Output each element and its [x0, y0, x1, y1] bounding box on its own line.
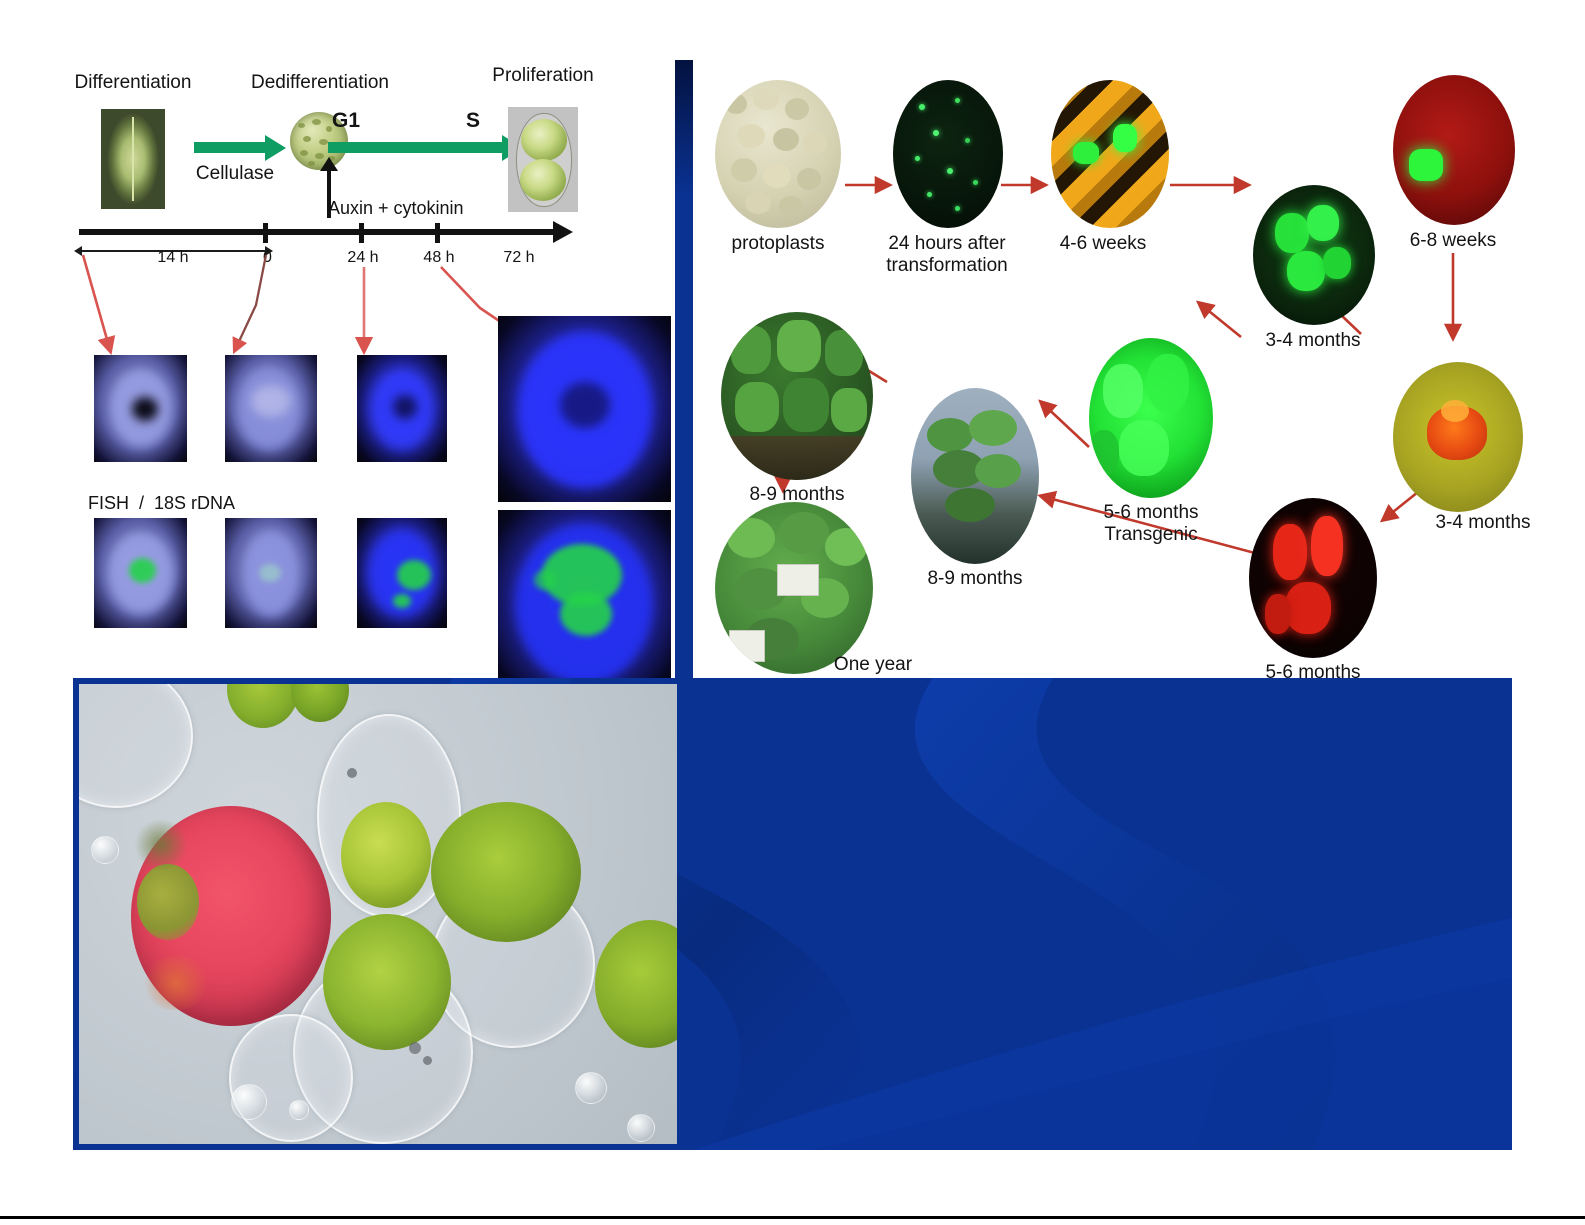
nucleus-image-24h	[357, 355, 447, 462]
page-bottom-rule	[0, 1216, 1585, 1219]
step-label-8-9-months-plant: 8-9 months	[927, 568, 1022, 590]
step-image-24h-after-transformation	[893, 80, 1003, 228]
timeline-tick-48h	[435, 223, 440, 243]
label-cellulase: Cellulase	[196, 163, 274, 185]
nucleus-image-48h	[498, 316, 671, 502]
leaf-photo	[101, 109, 165, 209]
label-g1-phase: G1	[332, 109, 360, 133]
timeline-tick-24h	[359, 223, 364, 243]
label-time-0: 0	[263, 249, 272, 268]
slide-canvas: Differentiation Dedifferentiation Prolif…	[0, 0, 1585, 1225]
timeline-axis	[79, 229, 554, 235]
step-image-8-9-months-plant	[911, 388, 1039, 564]
step-label-5-6-months-transgenic: 5-6 months Transgenic	[1103, 502, 1198, 546]
label-time-48h: 48 h	[423, 249, 454, 268]
step-label-3-4-months-shoots: 3-4 months	[1265, 330, 1360, 352]
fish-image-14h	[94, 518, 187, 628]
step-label-4-6-weeks: 4-6 weeks	[1060, 233, 1147, 255]
timeline-tick-0	[263, 223, 268, 243]
green-protoplast-right	[431, 802, 581, 942]
step-image-4-6-weeks	[1051, 80, 1169, 228]
left-figure-panel: Differentiation Dedifferentiation Prolif…	[60, 50, 675, 670]
step-label-6-8-weeks: 6-8 weeks	[1410, 230, 1497, 252]
protoplast-micrograph-photo	[79, 684, 677, 1144]
fish-image-0h	[225, 518, 317, 628]
label-auxin-cytokinin: Auxin + cytokinin	[328, 198, 464, 219]
cellulase-arrow	[194, 142, 266, 153]
label-14h: 14 h	[157, 249, 188, 268]
nucleus-image-0h	[225, 355, 317, 462]
step-label-protoplasts: protoplasts	[732, 233, 825, 255]
step-image-6-8-weeks	[1393, 75, 1515, 225]
label-time-24h: 24 h	[347, 249, 378, 268]
fish-image-24h	[357, 518, 447, 628]
step-image-5-6-months-non-transgenic	[1249, 498, 1377, 658]
right-figure-panel: protoplasts 24 hours after transformatio…	[693, 50, 1583, 680]
step-label-one-year: One year	[834, 654, 912, 676]
dividing-cell-photo	[508, 107, 578, 212]
step-image-one-year	[715, 502, 873, 674]
label-proliferation: Proliferation	[492, 65, 593, 87]
label-differentiation: Differentiation	[75, 72, 192, 94]
step-image-8-9-months-tray	[721, 312, 873, 480]
step-image-protoplasts	[715, 80, 841, 228]
step-image-5-6-months-transgenic	[1089, 338, 1213, 498]
panel-divider-bar	[675, 60, 693, 680]
cell-cycle-arrow	[328, 142, 503, 153]
step-image-3-4-months-transgenic-shoots	[1253, 185, 1375, 325]
nucleus-image-14h	[94, 355, 187, 462]
label-time-72h: 72 h	[503, 249, 534, 268]
step-label-3-4-months-callus: 3-4 months	[1435, 512, 1530, 534]
red-protoplast	[131, 806, 331, 1026]
step-label-24h-after-transformation: 24 hours after transformation	[886, 233, 1007, 277]
step-image-3-4-months-callus	[1393, 362, 1523, 512]
label-dedifferentiation: Dedifferentiation	[251, 72, 389, 94]
fish-image-48h	[498, 510, 671, 696]
label-fish-18s-rdna: FISH / 18S rDNA	[88, 493, 235, 514]
green-protoplast-upper	[341, 802, 431, 908]
green-protoplast-lower	[323, 914, 451, 1050]
label-s-phase: S	[466, 109, 480, 133]
